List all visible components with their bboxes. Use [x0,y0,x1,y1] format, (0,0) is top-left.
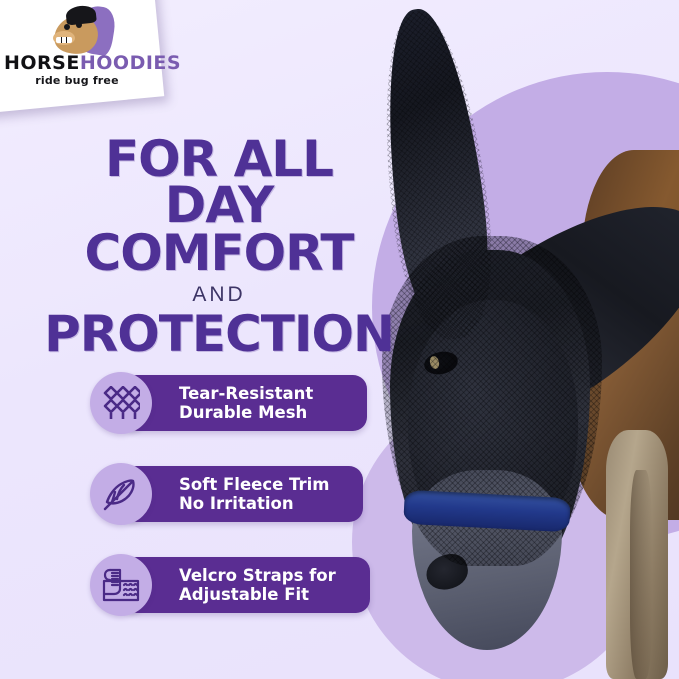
brand-logo: HORSEHOODIES ride bug free [4,2,150,98]
mascot-eye-right [76,22,82,28]
feature-label: Tear-Resistant Durable Mesh [123,384,331,423]
promo-banner: HORSEHOODIES ride bug free FOR ALL DAY C… [0,0,679,679]
headline-line-2: COMFORT [44,230,394,276]
feature-pill: Tear-Resistant Durable Mesh [123,375,367,431]
feature-line-2: Durable Mesh [179,403,313,422]
page-title: FOR ALL DAY COMFORT AND PROTECTION [44,136,394,357]
headline-line-1: FOR ALL DAY [44,136,394,228]
feature-line-2: Adjustable Fit [179,585,336,604]
mesh-lattice-icon [90,372,152,434]
feature-label: Soft Fleece Trim No Irritation [123,475,347,514]
donkey-leg-shading [630,470,652,679]
feature-line-1: Soft Fleece Trim [179,475,329,494]
brand-word-hoodies: HOODIES [80,52,181,74]
velcro-strap-icon [90,554,152,616]
brand-tagline: ride bug free [4,74,150,87]
brand-word-horse: HORSE [4,52,80,74]
brand-wordmark: HORSEHOODIES [4,54,150,73]
headline-line-3: PROTECTION [44,311,394,357]
feature-pill: Soft Fleece Trim No Irritation [123,466,363,522]
mascot-eye-left [64,24,70,30]
headline-connector: AND [44,283,394,307]
feature-pill: Velcro Straps for Adjustable Fit [123,557,370,613]
feature-line-2: No Irritation [179,494,329,513]
donkey-head-icon [50,4,112,58]
feather-icon [90,463,152,525]
feature-label: Velcro Straps for Adjustable Fit [123,566,354,605]
feature-line-1: Tear-Resistant [179,384,313,403]
feature-line-1: Velcro Straps for [179,566,336,585]
mascot-teeth [56,37,72,43]
